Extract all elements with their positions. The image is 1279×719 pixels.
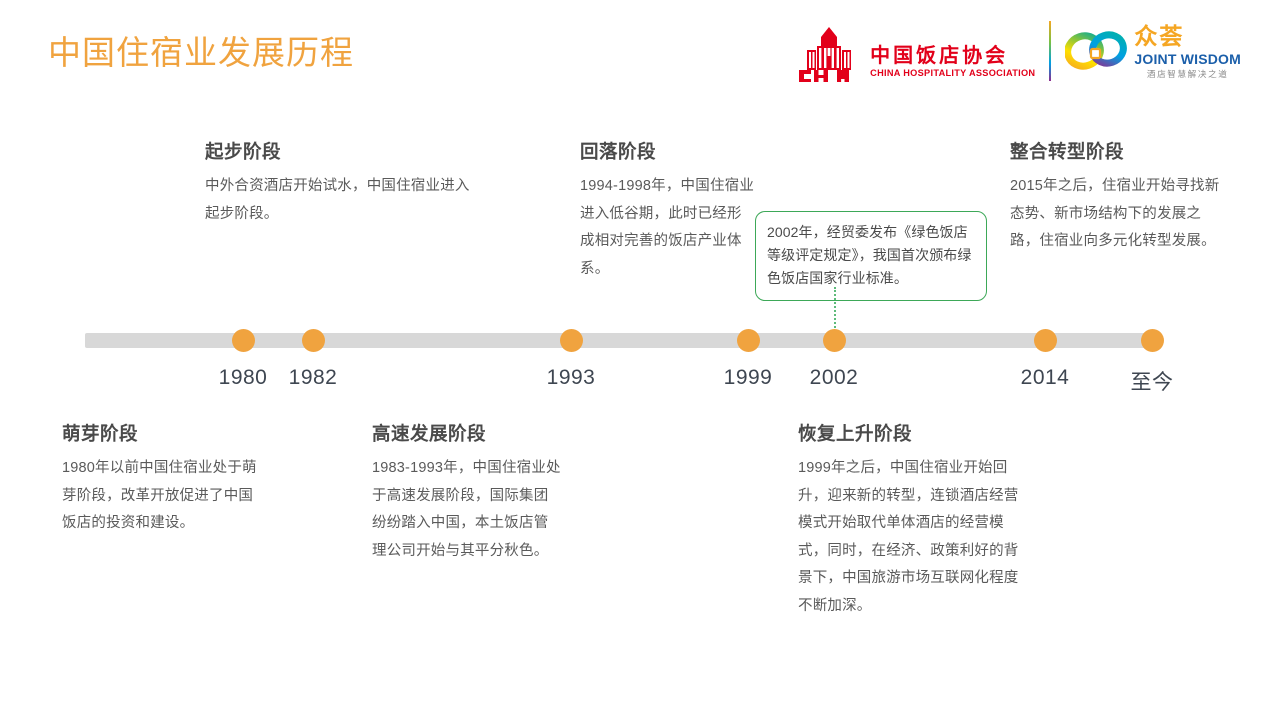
phase-body: 中外合资酒店开始试水，中国住宿业进入起步阶段。 xyxy=(205,173,475,228)
phase-body: 1980年以前中国住宿业处于萌芽阶段，改革开放促进了中国饭店的投资和建设。 xyxy=(62,455,262,538)
timeline-year-label-1980: 1980 xyxy=(219,366,268,390)
timeline-year-label-1999: 1999 xyxy=(724,366,773,390)
phase-title: 起步阶段 xyxy=(205,138,475,164)
phase-body: 1994-1998年，中国住宿业进入低谷期，此时已经形成相对完善的饭店产业体系。 xyxy=(580,173,755,283)
cha-name-en: CHINA HOSPITALITY ASSOCIATION xyxy=(870,68,1035,80)
rainbow-infinity-icon xyxy=(1065,29,1127,73)
callout-box-2002: 2002年，经贸委发布《绿色饭店等级评定规定》，我国首次颁布绿色饭店国家行业标准… xyxy=(755,211,987,301)
timeline-dot-1982[interactable] xyxy=(302,329,325,352)
phase-title: 萌芽阶段 xyxy=(62,420,262,446)
phase-block-qibu: 起步阶段 中外合资酒店开始试水，中国住宿业进入起步阶段。 xyxy=(205,138,475,228)
cha-logo: 中国饭店协会 CHINA HOSPITALITY ASSOCIATION xyxy=(797,20,1035,82)
joint-wisdom-name-en: JOINT WISDOM xyxy=(1134,51,1241,69)
joint-wisdom-name-cn: 众荟 xyxy=(1134,25,1241,49)
logo-divider xyxy=(1049,21,1051,81)
timeline-dot-2002[interactable] xyxy=(823,329,846,352)
joint-wisdom-tagline: 酒店智慧解决之道 xyxy=(1134,70,1241,79)
timeline-dot-1980[interactable] xyxy=(232,329,255,352)
phase-title: 回落阶段 xyxy=(580,138,755,164)
phase-body: 1999年之后，中国住宿业开始回升，迎来新的转型，连锁酒店经营模式开始取代单体酒… xyxy=(798,455,1020,620)
cha-logo-text: 中国饭店协会 CHINA HOSPITALITY ASSOCIATION xyxy=(870,44,1035,82)
page-title: 中国住宿业发展历程 xyxy=(48,26,354,74)
logo-bar: 中国饭店协会 CHINA HOSPITALITY ASSOCIATION xyxy=(797,18,1241,84)
phase-title: 恢复上升阶段 xyxy=(798,420,1020,446)
phase-block-huifu: 恢复上升阶段 1999年之后，中国住宿业开始回升，迎来新的转型，连锁酒店经营模式… xyxy=(798,420,1020,620)
timeline-year-label-1993: 1993 xyxy=(547,366,596,390)
cha-name-cn: 中国饭店协会 xyxy=(870,44,1035,66)
phase-title: 整合转型阶段 xyxy=(1010,138,1220,164)
timeline-year-label-2002: 2002 xyxy=(810,366,859,390)
phase-block-huiluo: 回落阶段 1994-1998年，中国住宿业进入低谷期，此时已经形成相对完善的饭店… xyxy=(580,138,755,283)
joint-wisdom-logo: 众荟 JOINT WISDOM 酒店智慧解决之道 xyxy=(1065,20,1241,82)
timeline-dot-至今[interactable] xyxy=(1141,329,1164,352)
phase-title: 高速发展阶段 xyxy=(372,420,562,446)
joint-wisdom-logo-text: 众荟 JOINT WISDOM 酒店智慧解决之道 xyxy=(1134,23,1241,78)
timeline-year-label-至今: 至今 xyxy=(1131,366,1174,396)
cha-building-icon xyxy=(797,24,861,82)
phase-body: 2015年之后，住宿业开始寻找新态势、新市场结构下的发展之路，住宿业向多元化转型… xyxy=(1010,173,1220,256)
timeline-year-label-2014: 2014 xyxy=(1021,366,1070,390)
timeline-dot-1999[interactable] xyxy=(737,329,760,352)
phase-body: 1983-1993年，中国住宿业处于高速发展阶段，国际集团纷纷踏入中国，本土饭店… xyxy=(372,455,562,565)
phase-block-gaosu: 高速发展阶段 1983-1993年，中国住宿业处于高速发展阶段，国际集团纷纷踏入… xyxy=(372,420,562,565)
slide-canvas: 中国住宿业发展历程 xyxy=(0,0,1279,719)
phase-block-mengya: 萌芽阶段 1980年以前中国住宿业处于萌芽阶段，改革开放促进了中国饭店的投资和建… xyxy=(62,420,262,538)
phase-block-zhenghe: 整合转型阶段 2015年之后，住宿业开始寻找新态势、新市场结构下的发展之路，住宿… xyxy=(1010,138,1220,256)
timeline-dot-1993[interactable] xyxy=(560,329,583,352)
timeline-year-label-1982: 1982 xyxy=(289,366,338,390)
timeline-dot-2014[interactable] xyxy=(1034,329,1057,352)
